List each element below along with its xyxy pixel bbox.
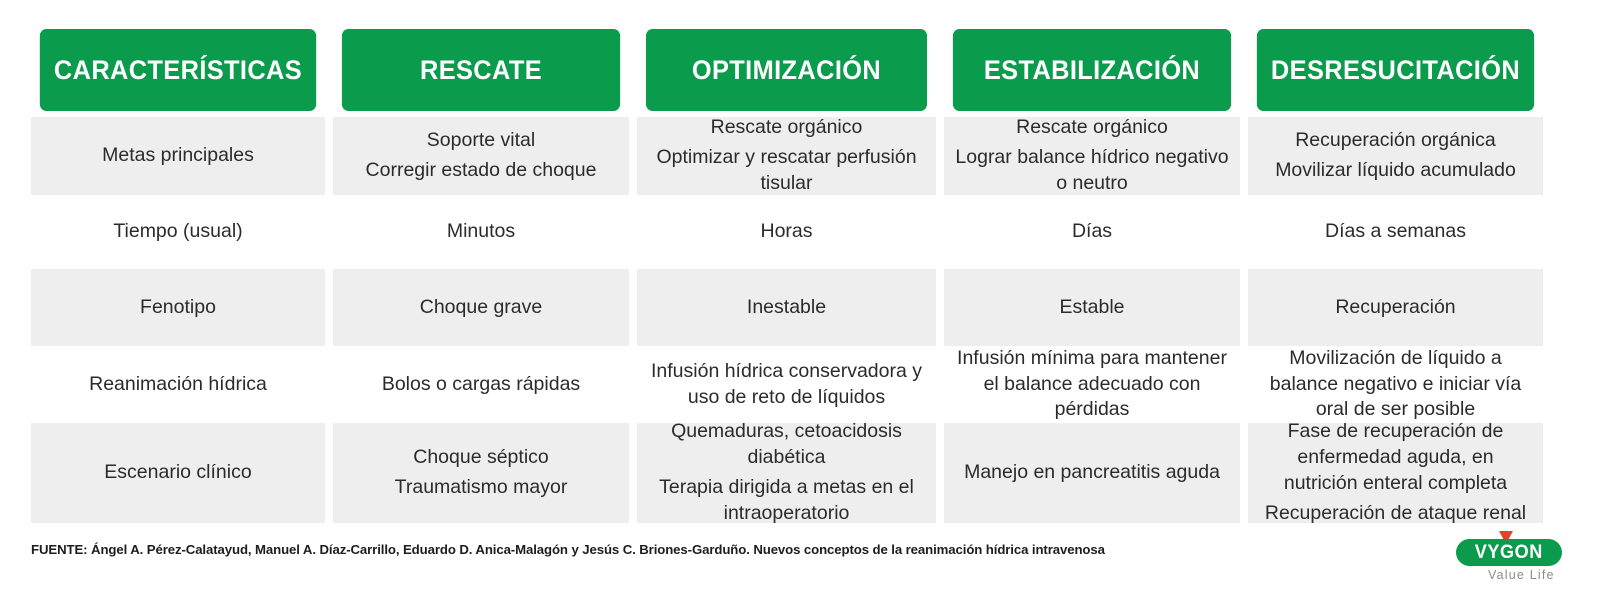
cell-line: Fase de recuperación de enfermedad aguda…	[1258, 419, 1533, 497]
cell-line: Recuperación orgánica	[1258, 128, 1533, 154]
table-cell: Recuperación	[1248, 269, 1543, 346]
cell-line: Lograr balance hídrico negativo o neutro	[954, 145, 1230, 197]
cell-line: Recuperación de ataque renal	[1258, 501, 1533, 527]
table-cell: Manejo en pancreatitis aguda	[944, 423, 1240, 523]
cell-line: Movilizar líquido acumulado	[1258, 158, 1533, 184]
column-header-optimizacion: OPTIMIZACIÓN	[646, 29, 927, 111]
cell-line: Metas principales	[41, 143, 315, 169]
table-cell: Fenotipo	[31, 269, 325, 346]
cell-line: Estable	[954, 295, 1230, 321]
cell-line: Horas	[647, 219, 926, 245]
logo-pill: VYGON	[1456, 539, 1562, 566]
cell-line: Días a semanas	[1258, 219, 1533, 245]
comparison-table: CARACTERÍSTICAS RESCATE OPTIMIZACIÓN EST…	[31, 29, 1587, 523]
table-cell: Movilización de líquido a balance negati…	[1248, 346, 1543, 423]
table-cell: Bolos o cargas rápidas	[333, 346, 629, 423]
table-cell: Metas principales	[31, 117, 325, 195]
cell-line: Terapia dirigida a metas en el intraoper…	[647, 475, 926, 527]
cell-line: Minutos	[343, 219, 619, 245]
vygon-logo: VYGON Value Life	[1452, 531, 1587, 589]
table-cell: Rescate orgánico Optimizar y rescatar pe…	[637, 117, 936, 195]
table-cell: Recuperación orgánica Movilizar líquido …	[1248, 117, 1543, 195]
column-header-caracteristicas: CARACTERÍSTICAS	[40, 29, 316, 111]
cell-line: Quemaduras, cetoacidosis diabética	[647, 419, 926, 471]
table-cell: Quemaduras, cetoacidosis diabética Terap…	[637, 423, 936, 523]
cell-line: Rescate orgánico	[954, 115, 1230, 141]
cell-line: Manejo en pancreatitis aguda	[954, 460, 1230, 486]
column-header-label: ESTABILIZACIÓN	[984, 55, 1200, 86]
source-label: FUENTE:	[31, 542, 87, 557]
table-cell: Minutos	[333, 195, 629, 269]
cell-line: Soporte vital	[343, 128, 619, 154]
cell-line: Traumatismo mayor	[343, 475, 619, 501]
logo-wordmark: VYGON	[1475, 542, 1543, 564]
table-cell: Rescate orgánico Lograr balance hídrico …	[944, 117, 1240, 195]
column-header-estabilizacion: ESTABILIZACIÓN	[953, 29, 1231, 111]
cell-line: Bolos o cargas rápidas	[343, 372, 619, 398]
cell-line: Movilización de líquido a balance negati…	[1258, 346, 1533, 424]
source-footer: FUENTE: Ángel A. Pérez-Calatayud, Manuel…	[31, 542, 1431, 557]
column-header-desresucitacion: DESRESUCITACIÓN	[1257, 29, 1534, 111]
table-cell: Infusión mínima para mantener el balance…	[944, 346, 1240, 423]
cell-line: Inestable	[647, 295, 926, 321]
table-row: Metas principales Soporte vital Corregir…	[31, 117, 1587, 195]
table-cell: Estable	[944, 269, 1240, 346]
column-header-label: OPTIMIZACIÓN	[692, 55, 881, 86]
cell-line: Optimizar y rescatar perfusión tisular	[647, 145, 926, 197]
logo-tagline: Value Life	[1488, 568, 1555, 582]
table-cell: Choque séptico Traumatismo mayor	[333, 423, 629, 523]
table-row: Tiempo (usual) Minutos Horas Días Días a…	[31, 195, 1587, 269]
table-row: Reanimación hídrica Bolos o cargas rápid…	[31, 346, 1587, 423]
table-cell: Fase de recuperación de enfermedad aguda…	[1248, 423, 1543, 523]
table-cell: Horas	[637, 195, 936, 269]
table-cell: Tiempo (usual)	[31, 195, 325, 269]
cell-line: Infusión mínima para mantener el balance…	[954, 346, 1230, 424]
cell-line: Escenario clínico	[41, 460, 315, 486]
cell-line: Recuperación	[1258, 295, 1533, 321]
table-header-row: CARACTERÍSTICAS RESCATE OPTIMIZACIÓN EST…	[31, 29, 1587, 111]
table-cell: Inestable	[637, 269, 936, 346]
cell-line: Corregir estado de choque	[343, 158, 619, 184]
column-header-rescate: RESCATE	[342, 29, 620, 111]
cell-line: Días	[954, 219, 1230, 245]
infographic-table-page: CARACTERÍSTICAS RESCATE OPTIMIZACIÓN EST…	[0, 0, 1617, 596]
table-cell: Días a semanas	[1248, 195, 1543, 269]
table-cell: Reanimación hídrica	[31, 346, 325, 423]
cell-line: Reanimación hídrica	[41, 372, 315, 398]
column-header-label: DESRESUCITACIÓN	[1271, 55, 1520, 86]
table-cell: Escenario clínico	[31, 423, 325, 523]
table-cell: Días	[944, 195, 1240, 269]
cell-line: Choque séptico	[343, 445, 619, 471]
cell-line: Fenotipo	[41, 295, 315, 321]
table-row: Fenotipo Choque grave Inestable Estable …	[31, 269, 1587, 346]
source-citation: Ángel A. Pérez-Calatayud, Manuel A. Díaz…	[91, 542, 1105, 557]
table-row: Escenario clínico Choque séptico Traumat…	[31, 423, 1587, 523]
cell-line: Infusión hídrica conservadora y uso de r…	[647, 359, 926, 411]
table-cell: Soporte vital Corregir estado de choque	[333, 117, 629, 195]
table-cell: Choque grave	[333, 269, 629, 346]
column-header-label: RESCATE	[420, 55, 542, 86]
column-header-label: CARACTERÍSTICAS	[54, 55, 302, 86]
cell-line: Rescate orgánico	[647, 115, 926, 141]
cell-line: Tiempo (usual)	[41, 219, 315, 245]
cell-line: Choque grave	[343, 295, 619, 321]
table-cell: Infusión hídrica conservadora y uso de r…	[637, 346, 936, 423]
